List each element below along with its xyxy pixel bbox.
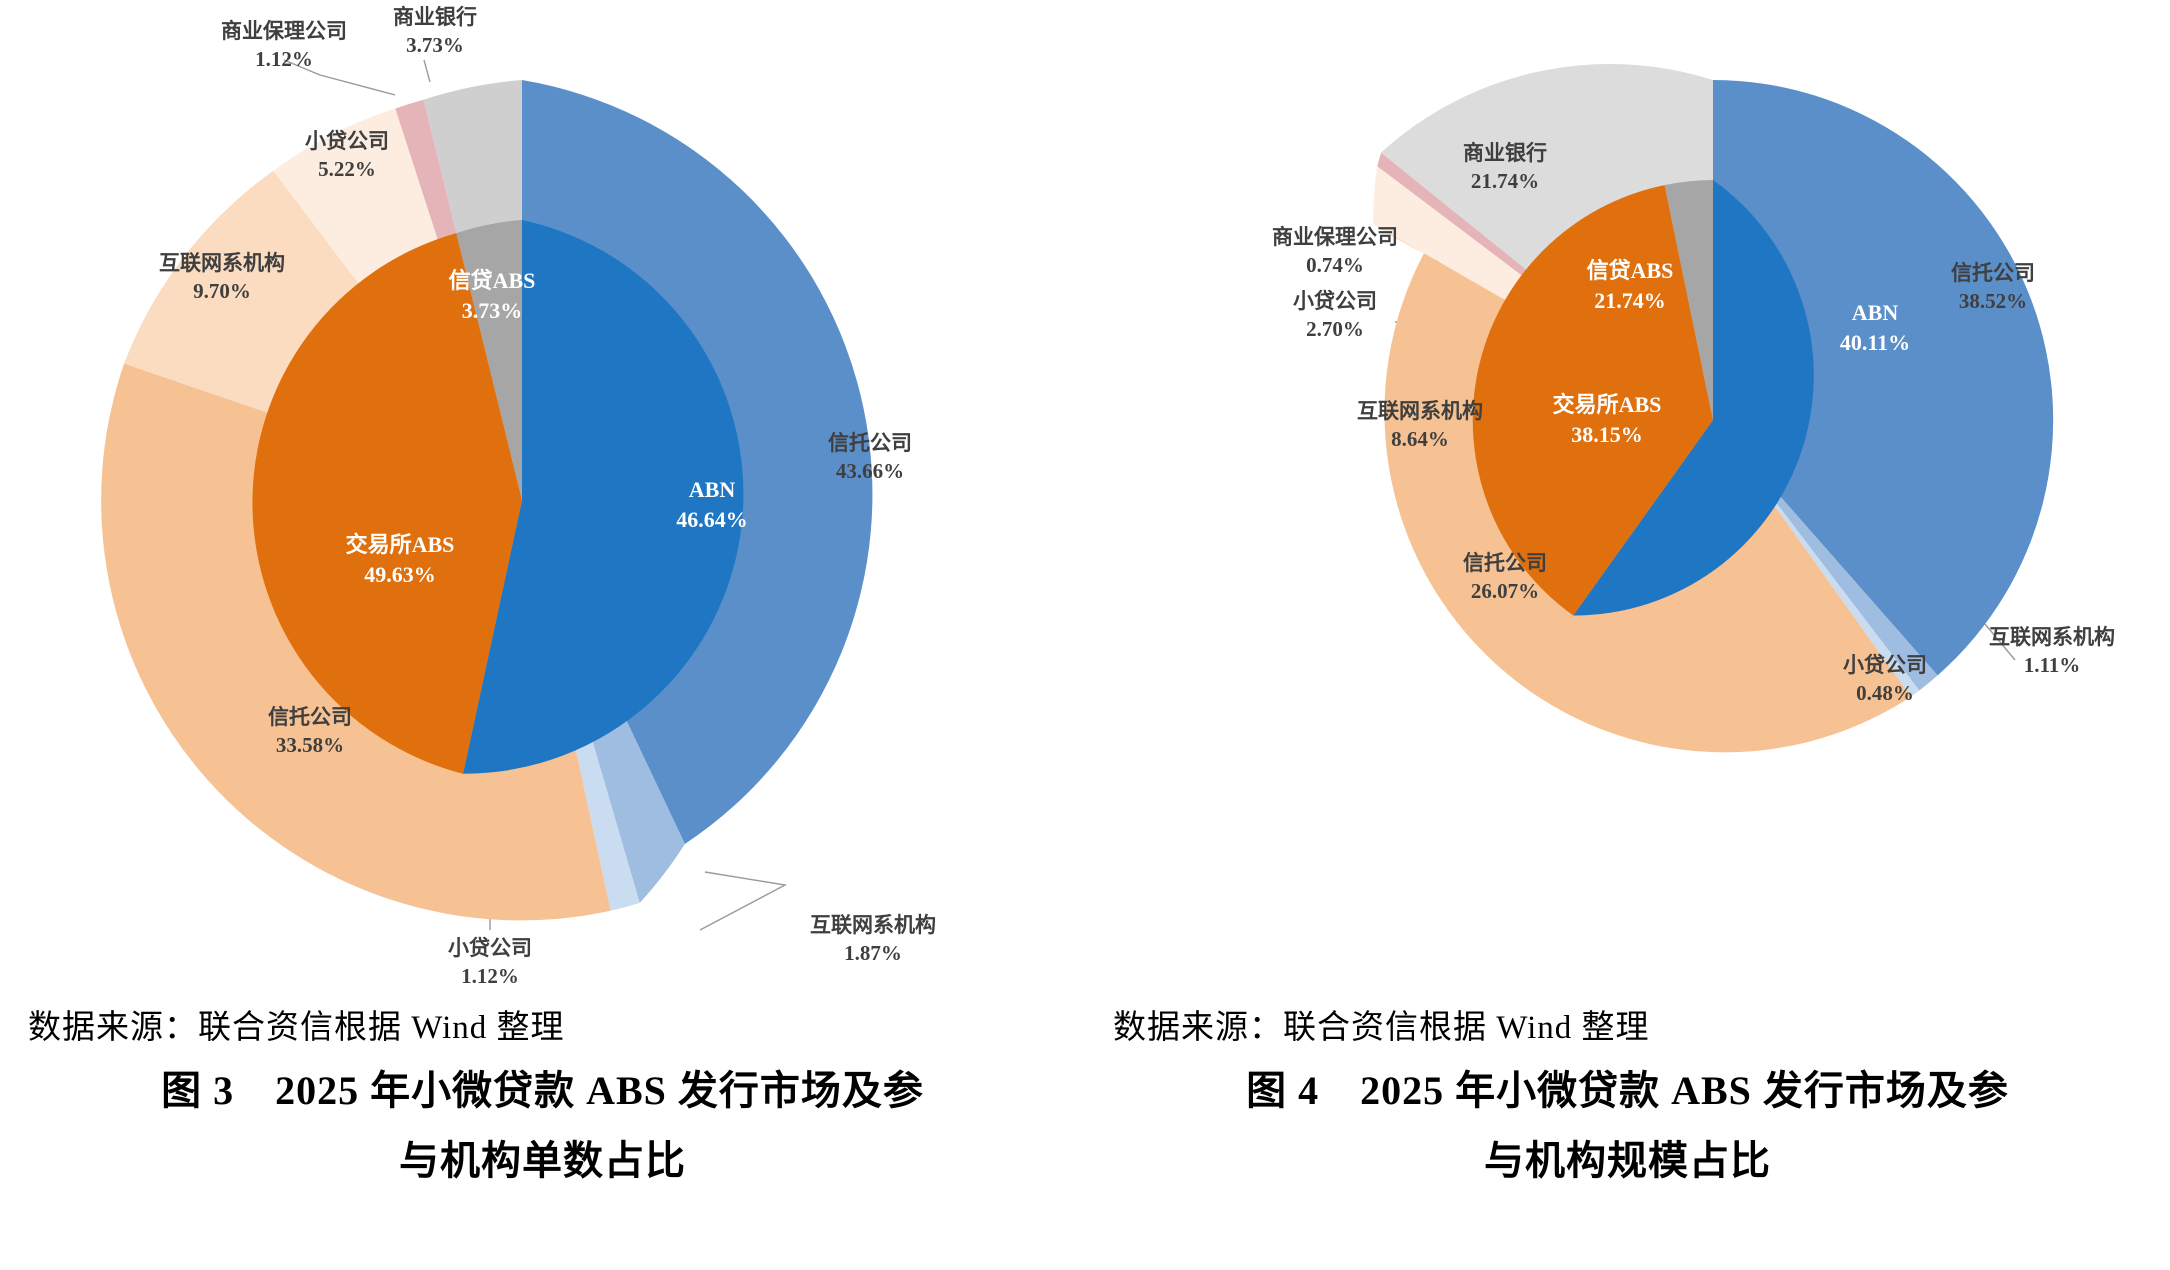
label-exchange-name: 交易所ABS [346, 532, 455, 557]
figure-4-title-line1: 图 4 2025 年小微贷款 ABS 发行市场及参 [1085, 1056, 2170, 1126]
sunburst-chart-scale: 商业银行 21.74% 商业保理公司 0.74% 小贷公司 2.70% 互联网系… [1085, 0, 2170, 1000]
figure-4-chart: 商业银行 21.74% 商业保理公司 0.74% 小贷公司 2.70% 互联网系… [1085, 0, 2170, 1000]
figure-3-caption: 数据来源：联合资信根据 Wind 整理 图 3 2025 年小微贷款 ABS 发… [0, 1000, 1085, 1196]
figure-4-caption: 数据来源：联合资信根据 Wind 整理 图 4 2025 年小微贷款 ABS 发… [1085, 1000, 2170, 1196]
label-abn-name: ABN [689, 477, 736, 502]
label-trust-value: 38.52% [1959, 289, 2027, 313]
label-bank-name: 商业银行 [1463, 141, 1547, 165]
label-trust-value: 43.66% [836, 459, 904, 483]
label-internet-name: 互联网系机构 [1357, 399, 1483, 423]
label-abn-value: 40.11% [1840, 330, 1910, 355]
label-microloan-value: 5.22% [318, 157, 376, 181]
label-exchange-value: 38.15% [1571, 422, 1643, 447]
label-bank-value: 3.73% [406, 33, 464, 57]
label-trust-name: 信托公司 [1951, 261, 2035, 285]
figure-3-chart: 商业保理公司 1.12% 商业银行 3.73% 小贷公司 5.22% 互联网系机… [0, 0, 1085, 1000]
label-internet-small-name: 互联网系机构 [810, 913, 936, 937]
label-internet-name: 互联网系机构 [159, 251, 285, 275]
leader-line-bank [424, 60, 430, 82]
label-credit-value: 21.74% [1594, 288, 1666, 313]
label-internet-small-name: 互联网系机构 [1989, 625, 2115, 649]
label-trust2-name: 信托公司 [268, 705, 352, 729]
figure-3-source: 数据来源：联合资信根据 Wind 整理 [0, 1000, 1085, 1056]
label-credit-name: 信贷ABS [1587, 258, 1674, 283]
label-microloan-small-name: 小贷公司 [448, 936, 532, 960]
label-factoring-name: 商业保理公司 [1272, 225, 1398, 249]
label-trust2-name: 信托公司 [1463, 551, 1547, 575]
figure-4-panel: 商业银行 21.74% 商业保理公司 0.74% 小贷公司 2.70% 互联网系… [1085, 0, 2170, 1270]
figures-page: 商业保理公司 1.12% 商业银行 3.73% 小贷公司 5.22% 互联网系机… [0, 0, 2170, 1270]
label-trust-name: 信托公司 [828, 431, 912, 455]
label-trust2-value: 33.58% [276, 733, 344, 757]
label-internet-value: 8.64% [1391, 427, 1449, 451]
label-bank-value: 21.74% [1471, 169, 1539, 193]
label-internet-small-value: 1.87% [844, 941, 902, 965]
figure-4-source: 数据来源：联合资信根据 Wind 整理 [1085, 1000, 2170, 1056]
label-abn-value: 46.64% [676, 507, 748, 532]
label-microloan-name: 小贷公司 [1293, 289, 1377, 313]
label-microloan-small-name: 小贷公司 [1843, 653, 1927, 677]
label-credit-value: 3.73% [462, 298, 523, 323]
label-bank-name: 商业银行 [393, 5, 477, 29]
label-microloan-value: 2.70% [1306, 317, 1364, 341]
label-microloan-small-value: 1.12% [461, 964, 519, 988]
label-factoring-value: 1.12% [255, 47, 313, 71]
figure-3-title-line1: 图 3 2025 年小微贷款 ABS 发行市场及参 [0, 1056, 1085, 1126]
sunburst-chart-units: 商业保理公司 1.12% 商业银行 3.73% 小贷公司 5.22% 互联网系机… [0, 0, 1085, 1000]
label-exchange-value: 49.63% [364, 562, 436, 587]
label-credit-name: 信贷ABS [449, 268, 536, 293]
label-internet-small-value: 1.11% [2024, 653, 2081, 677]
label-microloan-name: 小贷公司 [305, 129, 389, 153]
label-factoring-value: 0.74% [1306, 253, 1364, 277]
figure-3-panel: 商业保理公司 1.12% 商业银行 3.73% 小贷公司 5.22% 互联网系机… [0, 0, 1085, 1270]
figure-3-title-line2: 与机构单数占比 [0, 1126, 1085, 1196]
label-factoring-name: 商业保理公司 [221, 19, 347, 43]
leader-line-internet-small [700, 872, 785, 930]
label-abn-name: ABN [1852, 300, 1899, 325]
label-exchange-name: 交易所ABS [1553, 392, 1662, 417]
label-microloan-small-value: 0.48% [1856, 681, 1914, 705]
label-internet-value: 9.70% [193, 279, 251, 303]
figure-4-title-line2: 与机构规模占比 [1085, 1126, 2170, 1196]
label-trust2-value: 26.07% [1471, 579, 1539, 603]
